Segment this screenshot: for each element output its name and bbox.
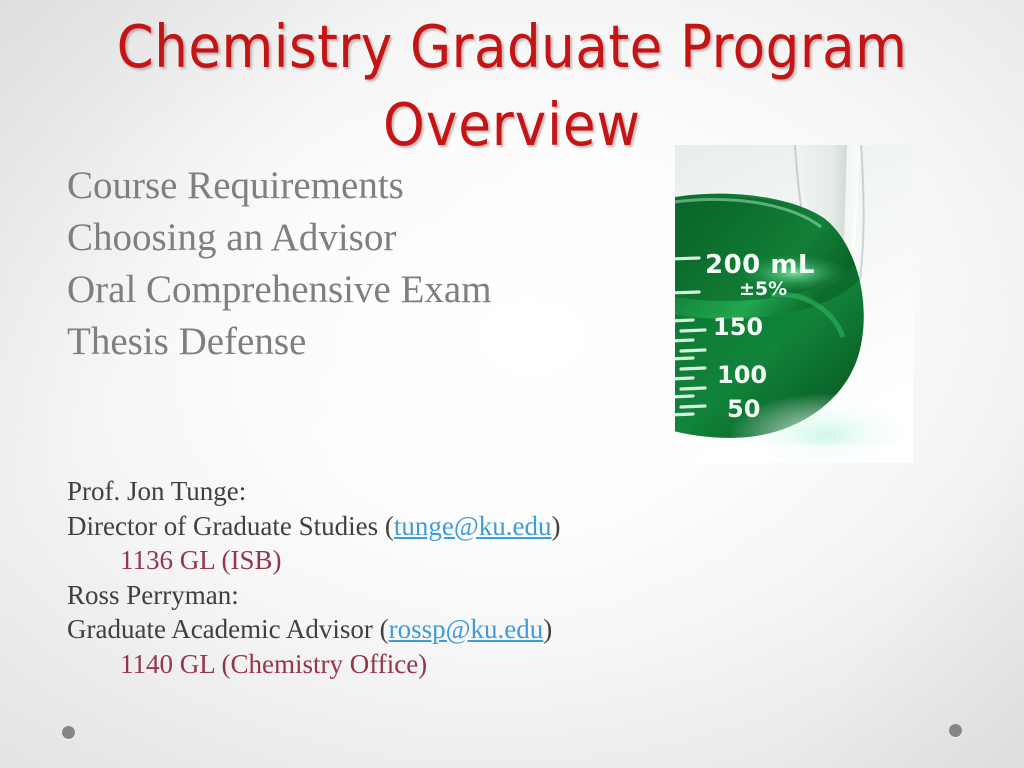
contact-role-suffix: ) bbox=[551, 511, 560, 541]
list-item: Thesis Defense bbox=[67, 316, 492, 368]
email-link-rossp[interactable]: rossp@ku.edu bbox=[389, 614, 544, 644]
title-line-2: Overview bbox=[62, 86, 962, 164]
contact-name: Prof. Jon Tunge: bbox=[67, 474, 560, 509]
contact-role: Graduate Academic Advisor (rossp@ku.edu) bbox=[67, 612, 560, 647]
list-item: Oral Comprehensive Exam bbox=[67, 264, 492, 316]
list-item: Course Requirements bbox=[67, 160, 492, 212]
svg-text:100: 100 bbox=[717, 361, 767, 389]
topic-list: Course Requirements Choosing an Advisor … bbox=[67, 160, 492, 368]
svg-text:±5%: ±5% bbox=[739, 278, 787, 300]
contact-room: 1140 GL (Chemistry Office) bbox=[67, 647, 560, 682]
contact-room: 1136 GL (ISB) bbox=[67, 543, 560, 578]
decorative-dot-left bbox=[62, 726, 75, 739]
contact-block: Prof. Jon Tunge: Director of Graduate St… bbox=[67, 474, 560, 681]
flask-illustration: 200 mL ±5% 150 100 50 bbox=[675, 145, 913, 463]
slide-canvas: Chemistry Graduate Program Overview Cour… bbox=[0, 0, 1024, 768]
title-line-1: Chemistry Graduate Program bbox=[62, 8, 962, 86]
contact-name: Ross Perryman: bbox=[67, 578, 560, 613]
list-item: Choosing an Advisor bbox=[67, 212, 492, 264]
contact-role-prefix: Director of Graduate Studies ( bbox=[67, 511, 394, 541]
contact-role-prefix: Graduate Academic Advisor ( bbox=[67, 614, 389, 644]
svg-text:150: 150 bbox=[713, 313, 763, 341]
decorative-dot-right bbox=[949, 724, 962, 737]
flask-image: 200 mL ±5% 150 100 50 bbox=[675, 145, 913, 463]
email-link-tunge[interactable]: tunge@ku.edu bbox=[394, 511, 552, 541]
contact-role: Director of Graduate Studies (tunge@ku.e… bbox=[67, 509, 560, 544]
page-title: Chemistry Graduate Program Overview bbox=[62, 8, 962, 164]
contact-role-suffix: ) bbox=[543, 614, 552, 644]
svg-text:200 mL: 200 mL bbox=[705, 250, 815, 280]
